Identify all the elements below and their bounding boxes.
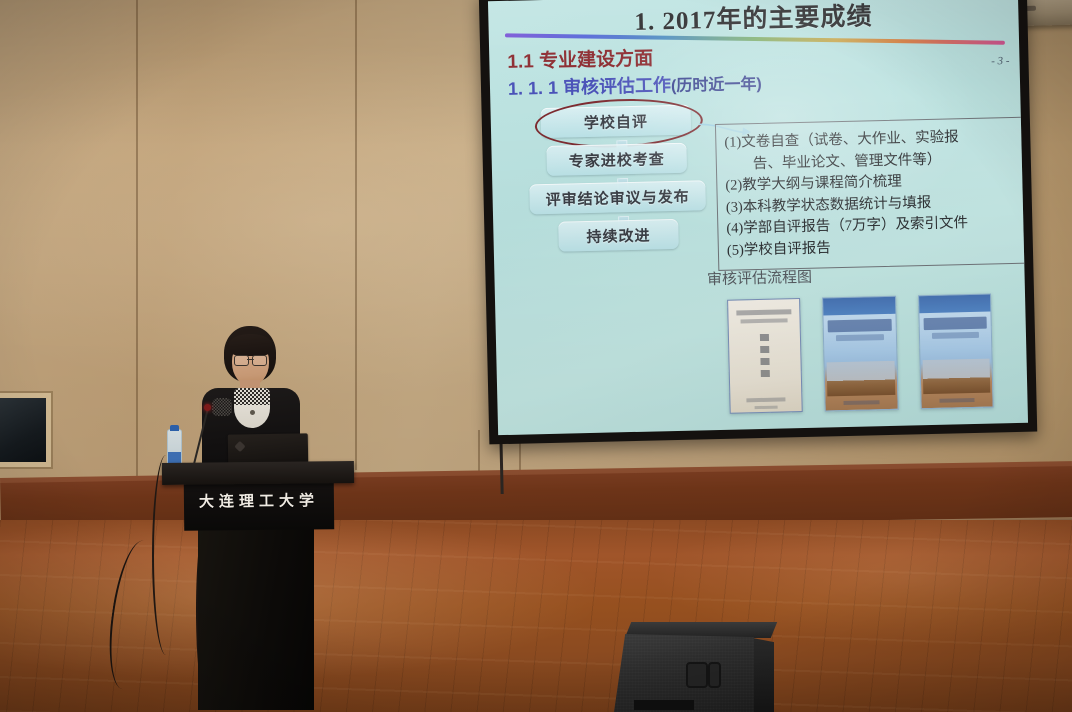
lecture-hall-photo: 1. 2017年的主要成绩 1.1 专业建设方面 1. 1. 1 审核评估工作(… (0, 0, 1072, 712)
projection-screen: 1. 2017年的主要成绩 1.1 专业建设方面 1. 1. 1 审核评估工作(… (479, 0, 1037, 444)
subsection-text: 1. 1. 1 审核评估工作 (508, 75, 671, 99)
flow-step-2: 专家进校考查 (546, 143, 687, 176)
monitor-handle-slot (708, 662, 721, 688)
screen-surface: 1. 2017年的主要成绩 1.1 专业建设方面 1. 1. 1 审核评估工作(… (488, 0, 1028, 435)
sweater-pattern (212, 398, 232, 416)
microphone-indicator-light (204, 404, 211, 411)
laptop (228, 433, 309, 464)
stage-monitor-speaker (612, 622, 774, 712)
lectern-university-name: 大连理工大学 (184, 489, 334, 512)
lectern: 大连理工大学 (162, 462, 354, 710)
wall-seam (136, 0, 138, 492)
slide-section-heading: 1.1 专业建设方面 (507, 43, 653, 73)
laptop-logo (234, 441, 245, 452)
book-cover-white (727, 298, 803, 414)
lectern-top (162, 461, 354, 485)
monitor-front-grille (614, 634, 754, 712)
report-book-covers (727, 294, 994, 416)
flow-step-4: 持续改进 (558, 219, 679, 252)
slide-page-number: - 3 - (991, 55, 1010, 67)
flow-step-3: 评审结论审议与发布 (529, 180, 706, 214)
glasses-icon (234, 355, 267, 364)
assessment-flowchart: 学校自评 专家进校考查 评审结论审议与发布 持续改进 (520, 104, 713, 252)
wall-opening (0, 398, 46, 462)
book-cover-blue-2 (918, 294, 994, 410)
slide-subsection-heading: 1. 1. 1 审核评估工作(历时近一年) (508, 69, 762, 101)
presentation-slide: 1. 2017年的主要成绩 1.1 专业建设方面 1. 1. 1 审核评估工作(… (488, 0, 1028, 435)
collar-button (250, 410, 255, 415)
monitor-badge (634, 700, 694, 710)
self-assessment-list-box: (1)文卷自查（试卷、大作业、实验报 告、毕业论文、管理文件等） (2)教学大纲… (715, 117, 1028, 272)
bottle-cap (170, 425, 179, 431)
lectern-column (198, 526, 314, 710)
self-assessment-list: (1)文卷自查（试卷、大作业、实验报 告、毕业论文、管理文件等） (2)教学大纲… (724, 126, 1023, 261)
presenter-fringe (229, 334, 272, 356)
subsection-note: (历时近一年) (671, 76, 762, 95)
wall-seam (355, 0, 357, 470)
monitor-handle-cutout (686, 662, 708, 688)
book-cover-blue-1 (822, 296, 898, 412)
collar-pattern (234, 388, 270, 405)
